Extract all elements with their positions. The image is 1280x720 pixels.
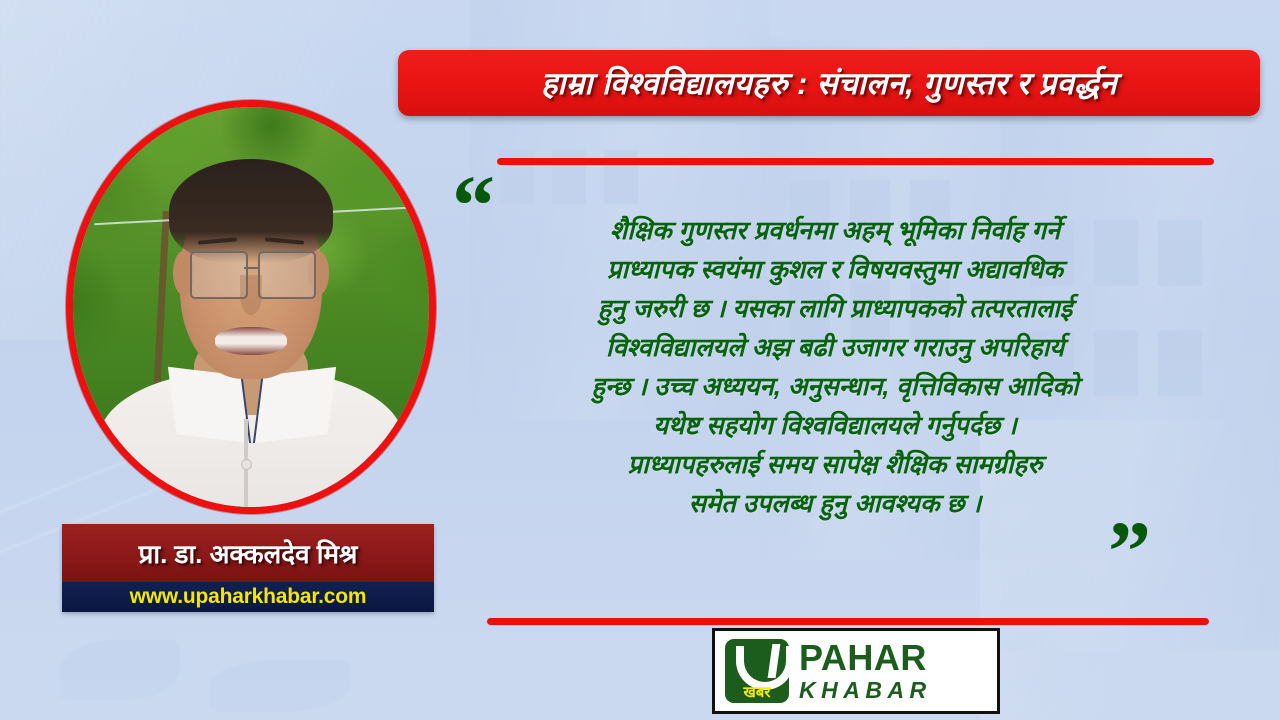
quote-line: हुन्छ । उच्च अध्ययन, अनुसन्धान, वृत्तिवि… [452, 368, 1218, 407]
logo-word-bottom: KHABAR [799, 679, 932, 702]
quote-close-icon: ” [1108, 508, 1151, 594]
logo-word-top: PAHAR [799, 640, 932, 676]
poster-title-banner: हाम्रा विश्वविद्यालयहरु : संचालन, गुणस्त… [398, 50, 1260, 116]
speaker-name-banner: प्रा. डा. अक्कलदेव मिश्र [62, 524, 434, 582]
quote-line: हुनु जरुरी छ । यसका लागि प्राध्यापकको तत… [452, 290, 1218, 329]
avatar [66, 100, 436, 514]
logo-mark-text: खबर [725, 685, 789, 700]
quote-line: शैक्षिक गुणस्तर प्रवर्धनमा अहम् भूमिका न… [452, 212, 1218, 251]
quote-line: प्राध्यापक स्वयंमा कुशल र विषयवस्तुमा अद… [452, 251, 1218, 290]
quote-line: विश्वविद्यालयले अझ बढी उजागर गराउनु अपरि… [452, 329, 1218, 368]
poster-canvas: हाम्रा विश्वविद्यालयहरु : संचालन, गुणस्त… [0, 0, 1280, 720]
quote-line: यथेष्ट सहयोग विश्वविद्यालयले गर्नुपर्दछ … [452, 407, 1218, 446]
brand-logo[interactable]: खबर PAHAR KHABAR [712, 628, 1000, 714]
website-url: www.upaharkhabar.com [130, 585, 367, 609]
upahar-u-icon: खबर [725, 639, 789, 703]
quote-line: समेत उपलब्ध हुनु आवश्यक छ । [452, 485, 1218, 524]
quote-text: शैक्षिक गुणस्तर प्रवर्धनमा अहम् भूमिका न… [452, 212, 1218, 524]
divider-top [497, 158, 1214, 165]
page-title: हाम्रा विश्वविद्यालयहरु : संचालन, गुणस्त… [541, 62, 1117, 104]
website-url-banner[interactable]: www.upaharkhabar.com [62, 582, 434, 612]
quote-line: प्राध्यापहरुलाई समय सापेक्ष शैक्षिक सामग… [452, 446, 1218, 485]
logo-wordmark: PAHAR KHABAR [799, 640, 932, 702]
divider-bottom [487, 618, 1209, 625]
speaker-name: प्रा. डा. अक्कलदेव मिश्र [139, 535, 358, 571]
